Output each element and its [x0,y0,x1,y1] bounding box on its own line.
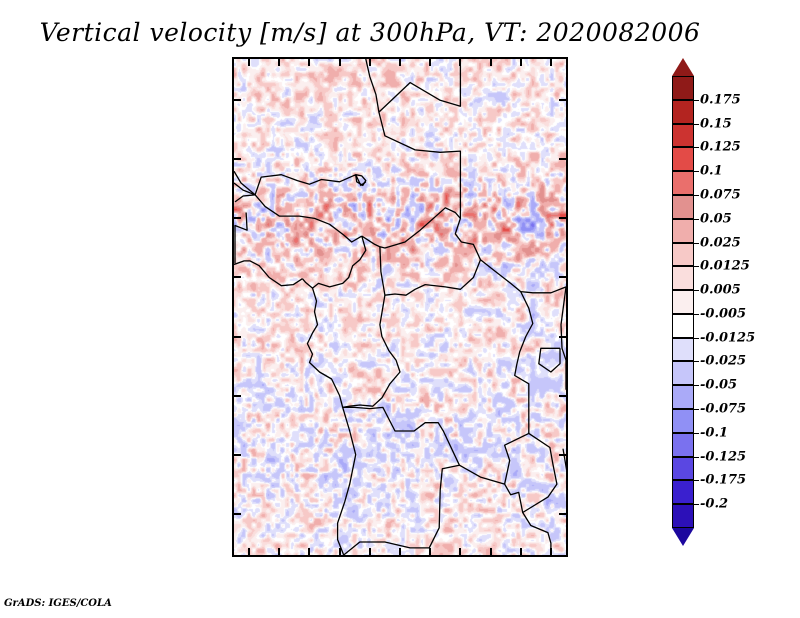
lon-tick-mark [490,548,492,555]
lon-tick-mark [429,59,431,66]
colorbar-tick [694,195,699,196]
lat-tick-mark [234,217,241,219]
lon-tick-mark [550,548,552,555]
colorbar-label-neg0p2: -0.2 [700,497,728,512]
colorbar-label-0p025: 0.025 [700,235,741,250]
border-line [307,288,355,555]
colorbar-tick [694,480,699,481]
colorbar-tick [694,243,699,244]
lon-tick-mark [339,59,341,66]
lon-tick-mark [429,548,431,555]
colorbar-tick [694,409,699,410]
colorbar-label-neg0p175: -0.175 [700,473,746,488]
colorbar-tick [694,266,699,267]
colorbar-band [672,171,694,195]
lat-tick-mark [234,99,241,101]
colorbar-tick [694,124,699,125]
colorbar-label-0p05: 0.05 [700,211,732,226]
colorbar-label-neg0p005: -0.005 [700,306,746,321]
colorbar-tick [694,100,699,101]
lon-tick-mark [339,548,341,555]
colorbar-label-0p075: 0.075 [700,187,741,202]
lon-tick-mark [369,548,371,555]
lat-tick-mark [559,99,566,101]
colorbar-tick [694,361,699,362]
lon-tick-mark [520,548,522,555]
colorbar-label-0p005: 0.005 [700,283,741,298]
border-line [561,287,566,390]
border-line [366,59,461,112]
lat-tick-mark [234,336,241,338]
colorbar-label-0p175: 0.175 [700,92,741,107]
lon-tick-mark [308,548,310,555]
lat-tick-mark [234,276,241,278]
colorbar-band [672,100,694,124]
border-line [234,261,302,286]
lat-tick-mark [559,158,566,160]
colorbar-tick [694,171,699,172]
lat-tick-mark [234,158,241,160]
border-line [379,112,566,293]
border-line [515,292,533,434]
colorbar-label-neg0p125: -0.125 [700,449,746,464]
lat-tick-mark [559,336,566,338]
lat-tick-mark [234,513,241,515]
lon-tick-mark [278,59,280,66]
colorbar-band [672,290,694,314]
lon-tick-mark [459,548,461,555]
colorbar-tick [694,147,699,148]
colorbar-tick [694,433,699,434]
colorbar-top-arrow [672,58,694,76]
border-line [505,433,557,512]
colorbar-tick [694,290,699,291]
colorbar-band [672,433,694,457]
lon-tick-mark [520,59,522,66]
border-line [255,195,362,242]
colorbar-label-neg0p075: -0.075 [700,402,746,417]
border-line [563,449,566,507]
colorbar-tick [694,385,699,386]
colorbar-band [672,314,694,338]
colorbar-label-0p1: 0.1 [700,164,723,179]
lat-tick-mark [234,454,241,456]
border-line [539,348,560,372]
lat-tick-mark [559,395,566,397]
lat-tick-mark [234,395,241,397]
colorbar-band [672,195,694,219]
colorbar-label-neg0p05: -0.05 [700,378,737,393]
colorbar-label-0p125: 0.125 [700,140,741,155]
grads-credit: GrADS: IGES/COLA [4,598,112,609]
lon-tick-mark [278,548,280,555]
lon-tick-mark [248,59,250,66]
border-line [362,208,461,248]
border-line [343,295,400,407]
lon-tick-mark [369,59,371,66]
colorbar-label-0p0125: 0.0125 [700,259,750,274]
colorbar-label-neg0p1: -0.1 [700,425,728,440]
colorbar-band [672,504,694,528]
lon-tick-mark [248,548,250,555]
lat-tick-mark [559,513,566,515]
country-borders [234,59,566,555]
colorbar-label-neg0p0125: -0.0125 [700,330,755,345]
colorbar-tick [694,504,699,505]
border-line [234,175,366,195]
colorbar-band [672,457,694,481]
lon-tick-mark [550,59,552,66]
lon-tick-mark [490,59,492,66]
lon-tick-mark [459,59,461,66]
lat-tick-mark [559,276,566,278]
colorbar: 0.1750.150.1250.10.0750.050.0250.01250.0… [672,76,694,528]
colorbar-band [672,124,694,148]
lon-tick-mark [399,548,401,555]
lat-tick-mark [559,217,566,219]
colorbar-band [672,147,694,171]
colorbar-label-0p15: 0.15 [700,116,732,131]
colorbar-band [672,361,694,385]
colorbar-tick [694,219,699,220]
lat-tick-mark [559,454,566,456]
colorbar-tick [694,457,699,458]
lon-tick-mark [308,59,310,66]
border-line [235,213,247,264]
colorbar-band [672,338,694,362]
border-line [356,175,366,186]
colorbar-band [672,76,694,100]
border-line [343,407,460,555]
colorbar-band [672,266,694,290]
page-title: Vertical velocity [m/s] at 300hPa, VT: 2… [0,18,740,47]
colorbar-tick [694,314,699,315]
colorbar-label-neg0p025: -0.025 [700,354,746,369]
colorbar-band [672,409,694,433]
colorbar-tick [694,338,699,339]
border-line [302,236,365,288]
map-plot-area[interactable]: 20N15N10N5NEQ5S10S15S3E6E9E12E15E18E21E2… [232,57,568,557]
colorbar-band [672,480,694,504]
border-line [235,195,255,202]
colorbar-bottom-arrow [672,528,694,546]
lon-tick-mark [399,59,401,66]
colorbar-band [672,385,694,409]
border-line [380,247,481,295]
colorbar-band [672,243,694,267]
colorbar-band [672,219,694,243]
